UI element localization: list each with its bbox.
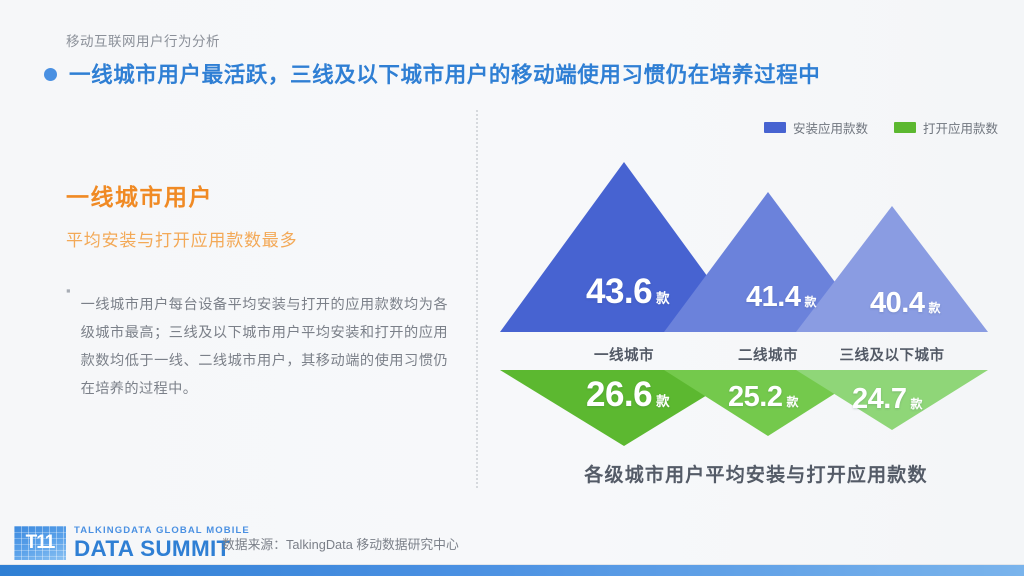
list-bullet-icon: ▪ xyxy=(66,277,71,305)
triangle-open-2 xyxy=(796,370,988,430)
kicker-text: 移动互联网用户行为分析 xyxy=(66,30,220,50)
left-text-panel: 一线城市用户 平均安装与打开应用款数最多 ▪ 一线城市用户每台设备平均安装与打开… xyxy=(66,178,448,417)
data-source-text: 数据来源：TalkingData 移动数据研究中心 xyxy=(222,534,459,553)
brand-logo: T11 TALKINGDATA GLOBAL MOBILE DATA SUMMI… xyxy=(14,526,250,560)
chart-container: 安装应用款数 打开应用款数 43.6款41.4款40.4款26.6款25.2款2… xyxy=(500,118,1012,488)
panel-subtitle: 平均安装与打开应用款数最多 xyxy=(66,226,448,251)
bullet-dot-icon xyxy=(44,68,57,81)
legend-item-install[interactable]: 安装应用款数 xyxy=(764,118,868,137)
legend-label-install: 安装应用款数 xyxy=(793,118,868,137)
bars-open-group xyxy=(500,370,988,446)
legend-swatch-open xyxy=(894,122,916,133)
headline-row: 一线城市用户最活跃，三线及以下城市用户的移动端使用习惯仍在培养过程中 xyxy=(44,58,820,89)
legend-item-open[interactable]: 打开应用款数 xyxy=(894,118,998,137)
panel-body-row: ▪ 一线城市用户每台设备平均安装与打开的应用款数均为各级城市最高；三线及以下城市… xyxy=(66,277,448,417)
logo-mark-text: T11 xyxy=(14,526,66,560)
vertical-divider xyxy=(476,110,478,488)
panel-body-text: 一线城市用户每台设备平均安装与打开的应用款数均为各级城市最高；三线及以下城市用户… xyxy=(81,291,448,403)
footer: T11 TALKINGDATA GLOBAL MOBILE DATA SUMMI… xyxy=(0,518,1024,576)
page-title: 一线城市用户最活跃，三线及以下城市用户的移动端使用习惯仍在培养过程中 xyxy=(69,58,820,89)
chart-caption: 各级城市用户平均安装与打开应用款数 xyxy=(500,460,1012,487)
triangle-chart-stage xyxy=(500,156,1012,446)
legend-label-open: 打开应用款数 xyxy=(923,118,998,137)
t11-logo-icon: T11 xyxy=(14,526,66,560)
chart-legend: 安装应用款数 打开应用款数 xyxy=(764,118,998,137)
panel-title: 一线城市用户 xyxy=(66,178,448,212)
legend-swatch-install xyxy=(764,122,786,133)
slide-canvas: 移动互联网用户行为分析 一线城市用户最活跃，三线及以下城市用户的移动端使用习惯仍… xyxy=(0,0,1024,576)
bars-install-group xyxy=(500,162,988,332)
footer-accent-bar xyxy=(0,565,1024,576)
triangle-chart-svg xyxy=(500,156,1012,446)
